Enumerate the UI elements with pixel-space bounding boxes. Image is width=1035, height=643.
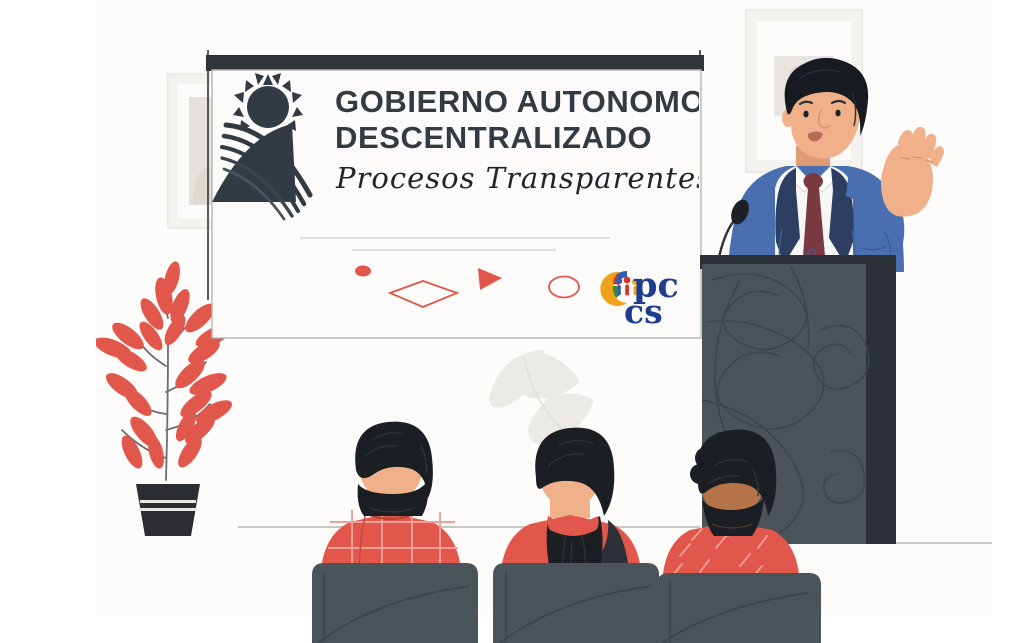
slide-title-line-2: DESCENTRALIZADO xyxy=(335,120,652,155)
screen-top-bar xyxy=(206,55,704,71)
illustration-canvas: GOBIERNO AUTONOMO DESCENTRALIZADO Proces… xyxy=(0,0,1035,643)
slide-title-line-1: GOBIERNO AUTONOMO xyxy=(335,84,705,119)
slide-tagline: Procesos Transparentes... xyxy=(335,161,743,195)
red-dot xyxy=(355,266,371,277)
projection-screen[interactable]: GOBIERNO AUTONOMO DESCENTRALIZADO Proces… xyxy=(206,50,743,338)
cpccs-text-cs: cs xyxy=(624,292,663,331)
podium-side xyxy=(866,264,896,544)
